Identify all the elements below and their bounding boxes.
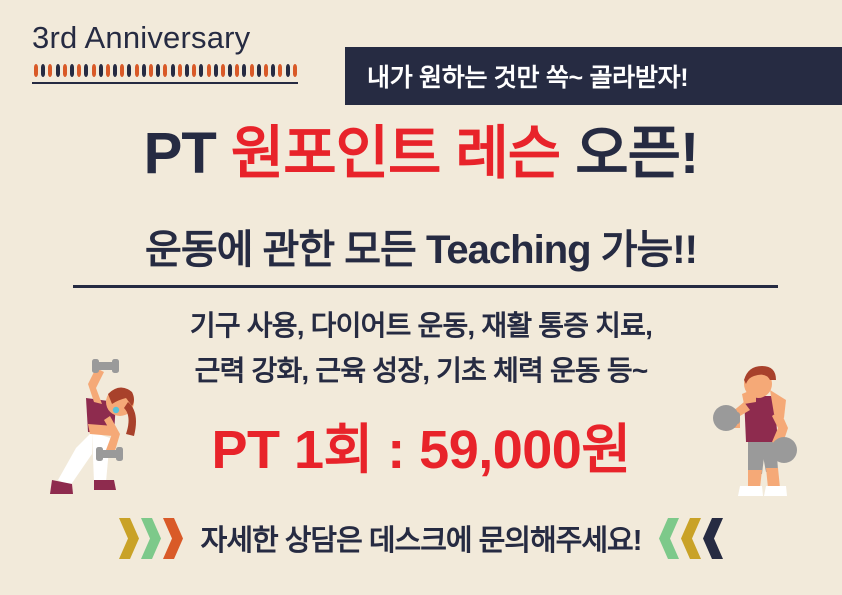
anniversary-dot (142, 64, 146, 77)
anniversary-dot (271, 64, 275, 77)
chevron-right-icon (140, 518, 161, 559)
anniversary-dot (185, 64, 189, 77)
headline-lead: PT (144, 121, 231, 186)
chevron-right-group-icon (118, 518, 183, 559)
anniversary-block: 3rd Anniversary (32, 22, 304, 84)
anniversary-dot (171, 64, 175, 77)
anniversary-dot (278, 64, 282, 77)
anniversary-dot (135, 64, 139, 77)
anniversary-dot (286, 64, 290, 77)
anniversary-dot (228, 64, 232, 77)
anniversary-dot (214, 64, 218, 77)
anniversary-dot (264, 64, 268, 77)
anniversary-dot (92, 64, 96, 77)
anniversary-dot (41, 64, 45, 77)
tagline-banner-text: 내가 원하는 것만 쏙~ 골라받자! (345, 58, 688, 94)
anniversary-dot-row (32, 64, 304, 77)
footer-cta-text: 자세한 상담은 데스크에 문의해주세요! (197, 517, 646, 559)
female-athlete-illustration (36, 358, 156, 508)
anniversary-dot (149, 64, 153, 77)
anniversary-dot (63, 64, 67, 77)
tagline-banner: 내가 원하는 것만 쏙~ 골라받자! (345, 47, 842, 105)
chevron-right-icon (162, 518, 183, 559)
anniversary-dot (293, 64, 297, 77)
anniversary-dot (235, 64, 239, 77)
service-list-line: 기구 사용, 다이어트 운동, 재활 통증 치료, (0, 303, 842, 348)
chevron-right-icon (118, 518, 139, 559)
anniversary-dot (178, 64, 182, 77)
anniversary-dot (127, 64, 131, 77)
promo-poster: 3rd Anniversary 내가 원하는 것만 쏙~ 골라받자! PT 원포… (0, 0, 842, 595)
page-title: PT 원포인트 레슨 오픈! (0, 122, 842, 186)
headline-tail: 오픈! (560, 121, 698, 186)
chevron-left-icon (681, 518, 702, 559)
anniversary-dot (48, 64, 52, 77)
headline-subtitle: 운동에 관한 모든 Teaching 가능!! (0, 228, 842, 272)
chevron-left-group-icon (659, 518, 724, 559)
anniversary-dot (221, 64, 225, 77)
anniversary-dot (56, 64, 60, 77)
footer-call-to-action: 자세한 상담은 데스크에 문의해주세요! (0, 512, 842, 564)
anniversary-dot (120, 64, 124, 77)
anniversary-dot (113, 64, 117, 77)
anniversary-title: 3rd Anniversary (32, 22, 304, 55)
anniversary-dot (207, 64, 211, 77)
anniversary-dot (192, 64, 196, 77)
anniversary-divider (32, 82, 298, 84)
anniversary-dot (199, 64, 203, 77)
anniversary-dot (242, 64, 246, 77)
anniversary-dot (250, 64, 254, 77)
chevron-left-icon (659, 518, 680, 559)
anniversary-dot (257, 64, 261, 77)
male-athlete-illustration (700, 358, 820, 508)
anniversary-dot (99, 64, 103, 77)
headline-divider (73, 285, 778, 288)
anniversary-dot (106, 64, 110, 77)
anniversary-dot (163, 64, 167, 77)
anniversary-dot (70, 64, 74, 77)
chevron-left-icon (703, 518, 724, 559)
anniversary-dot (34, 64, 38, 77)
anniversary-dot (77, 64, 81, 77)
anniversary-dot (156, 64, 160, 77)
headline-accent: 원포인트 레슨 (231, 121, 560, 186)
anniversary-dot (84, 64, 88, 77)
